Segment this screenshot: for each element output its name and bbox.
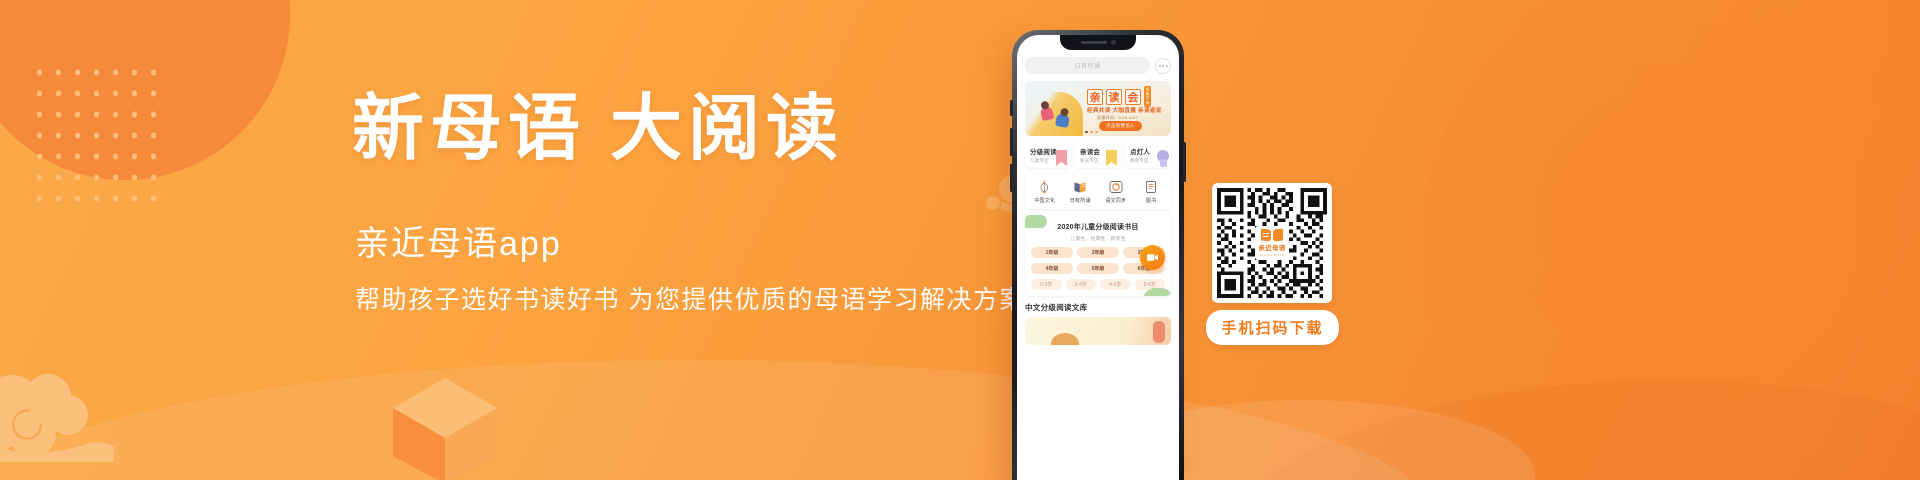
- front-camera-icon: [1111, 40, 1116, 45]
- page-title: 新母语 大阅读: [352, 92, 844, 168]
- sync-icon: [1109, 180, 1123, 194]
- booklist-card: 2020年儿童分级阅读书目 儿童性、经典性、教育性 1年级 2年级 3年级 4年…: [1025, 215, 1171, 296]
- qr-code-pattern: 亲近母语 QINJIN MUYU: [1217, 188, 1327, 298]
- promo-card[interactable]: 亲 读 会 经 典 共 读 经典共读 大咖直播 亲读者说 直播时间：9/16-9…: [1025, 81, 1171, 136]
- quick-item-daily-recite[interactable]: 日有所诵: [1063, 180, 1099, 204]
- phone-volume-up-button: [1010, 128, 1013, 156]
- quick-item-label: 日有所诵: [1070, 197, 1091, 204]
- bookmark-stripe: [1153, 321, 1165, 343]
- phone-power-button: [1183, 142, 1186, 182]
- quick-item-textbook-sync[interactable]: 语文同步: [1098, 180, 1134, 204]
- booklist-title: 2020年儿童分级阅读书目: [1031, 222, 1165, 232]
- age-button[interactable]: 0-3岁: [1031, 279, 1062, 290]
- search-placeholder: 日有所诵: [1074, 61, 1100, 70]
- promo-title-char: 会: [1125, 89, 1141, 105]
- quick-item-label: 中国文化: [1034, 197, 1055, 204]
- carousel-dots[interactable]: [1085, 131, 1098, 133]
- speaker-grille: [1081, 41, 1107, 44]
- lantern-icon: [1038, 180, 1052, 194]
- book-illustration: [1051, 333, 1079, 345]
- phone-mockup: 日有所诵 亲 读 会 经: [1012, 30, 1184, 480]
- cube-decoration: [385, 360, 505, 480]
- library-card[interactable]: [1025, 317, 1171, 345]
- bookmark-yellow-icon: [1104, 149, 1119, 167]
- category-card-parent-club[interactable]: 亲读会 家长专区: [1075, 142, 1121, 168]
- library-section-title: 中文分级阅读文库: [1025, 302, 1171, 313]
- quick-icon-row: 中国文化 日有所诵: [1025, 174, 1171, 209]
- brand-name: 亲近母语: [1258, 242, 1285, 252]
- promo-title-char: 读: [1106, 89, 1122, 105]
- book-icon: [1144, 180, 1158, 194]
- phone-notch: [1060, 35, 1136, 50]
- quick-item-chinese-culture[interactable]: 中国文化: [1027, 180, 1063, 204]
- grade-button[interactable]: 5年级: [1077, 263, 1119, 274]
- brand-pinyin: QINJIN MUYU: [1260, 253, 1285, 257]
- qr-code: 亲近母语 QINJIN MUYU: [1212, 183, 1332, 303]
- grade-button[interactable]: 1年级: [1031, 247, 1073, 258]
- open-book-icon: [1073, 180, 1087, 194]
- hill-shadow-decoration: [1220, 380, 1920, 480]
- scan-download-button[interactable]: 手机扫码下载: [1206, 310, 1339, 345]
- tagline-text: 帮助孩子选好书读好书 为您提供优质的母语学习解决方案: [355, 280, 1026, 316]
- booklist-subtitle: 儿童性、经典性、教育性: [1031, 235, 1165, 242]
- quick-item-label: 语文同步: [1105, 197, 1126, 204]
- quick-item-books[interactable]: 图书: [1134, 180, 1170, 204]
- search-row: 日有所诵: [1025, 57, 1171, 74]
- category-card-teacher[interactable]: 点灯人 教师专区: [1125, 142, 1171, 168]
- lamp-purple-icon: [1154, 149, 1169, 167]
- promo-title-char: 亲: [1087, 89, 1103, 105]
- phone-silent-button: [1010, 100, 1013, 116]
- promo-title: 亲 读 会 经 典 共 读: [1087, 86, 1151, 107]
- dot-grid-decoration: [30, 62, 166, 210]
- video-play-icon: [1146, 251, 1159, 264]
- bookmark-pink-icon: [1054, 149, 1069, 167]
- right-glow-decoration: [1420, 0, 1920, 480]
- grade-button[interactable]: 4年级: [1031, 263, 1073, 274]
- age-row: 0-3岁 3-4岁 4-5岁 5-6岁: [1031, 279, 1165, 290]
- video-play-button[interactable]: [1140, 245, 1165, 270]
- category-card-graded-reading[interactable]: 分级阅读 儿童专区: [1025, 142, 1071, 168]
- grade-button[interactable]: 2年级: [1077, 247, 1119, 258]
- kids-illustration: [1025, 92, 1083, 136]
- leaf-decoration-top-left: [1025, 215, 1047, 228]
- corner-circle-decoration: [0, 0, 290, 180]
- more-options-icon[interactable]: [1155, 58, 1171, 74]
- promo-subtitle: 经典共读 大咖直播 亲读者说: [1087, 106, 1162, 114]
- promo-banner: 新母语 大阅读 亲近母语app 帮助孩子选好书读好书 为您提供优质的母语学习解决…: [0, 0, 1920, 480]
- category-row: 分级阅读 儿童专区 亲读会 家长专区 点灯人: [1025, 142, 1171, 168]
- quick-item-label: 图书: [1146, 197, 1156, 204]
- book-logo-icon: [1261, 229, 1283, 241]
- app-name-subtitle: 亲近母语app: [355, 216, 562, 265]
- search-input[interactable]: 日有所诵: [1025, 57, 1150, 74]
- phone-screen: 日有所诵 亲 读 会 经: [1017, 35, 1179, 480]
- phone-volume-down-button: [1010, 164, 1013, 192]
- leaf-decoration-bottom-right: [1143, 288, 1171, 296]
- cloud-decoration-left: [0, 357, 140, 462]
- promo-cta-button[interactable]: 点击免费加入: [1099, 121, 1142, 131]
- age-button[interactable]: 4-5岁: [1100, 279, 1131, 290]
- hill-decoration: [0, 360, 1440, 480]
- qr-center-logo: 亲近母语 QINJIN MUYU: [1255, 226, 1289, 260]
- promo-flag: 经 典 共 读: [1144, 86, 1151, 107]
- age-button[interactable]: 3-4岁: [1066, 279, 1097, 290]
